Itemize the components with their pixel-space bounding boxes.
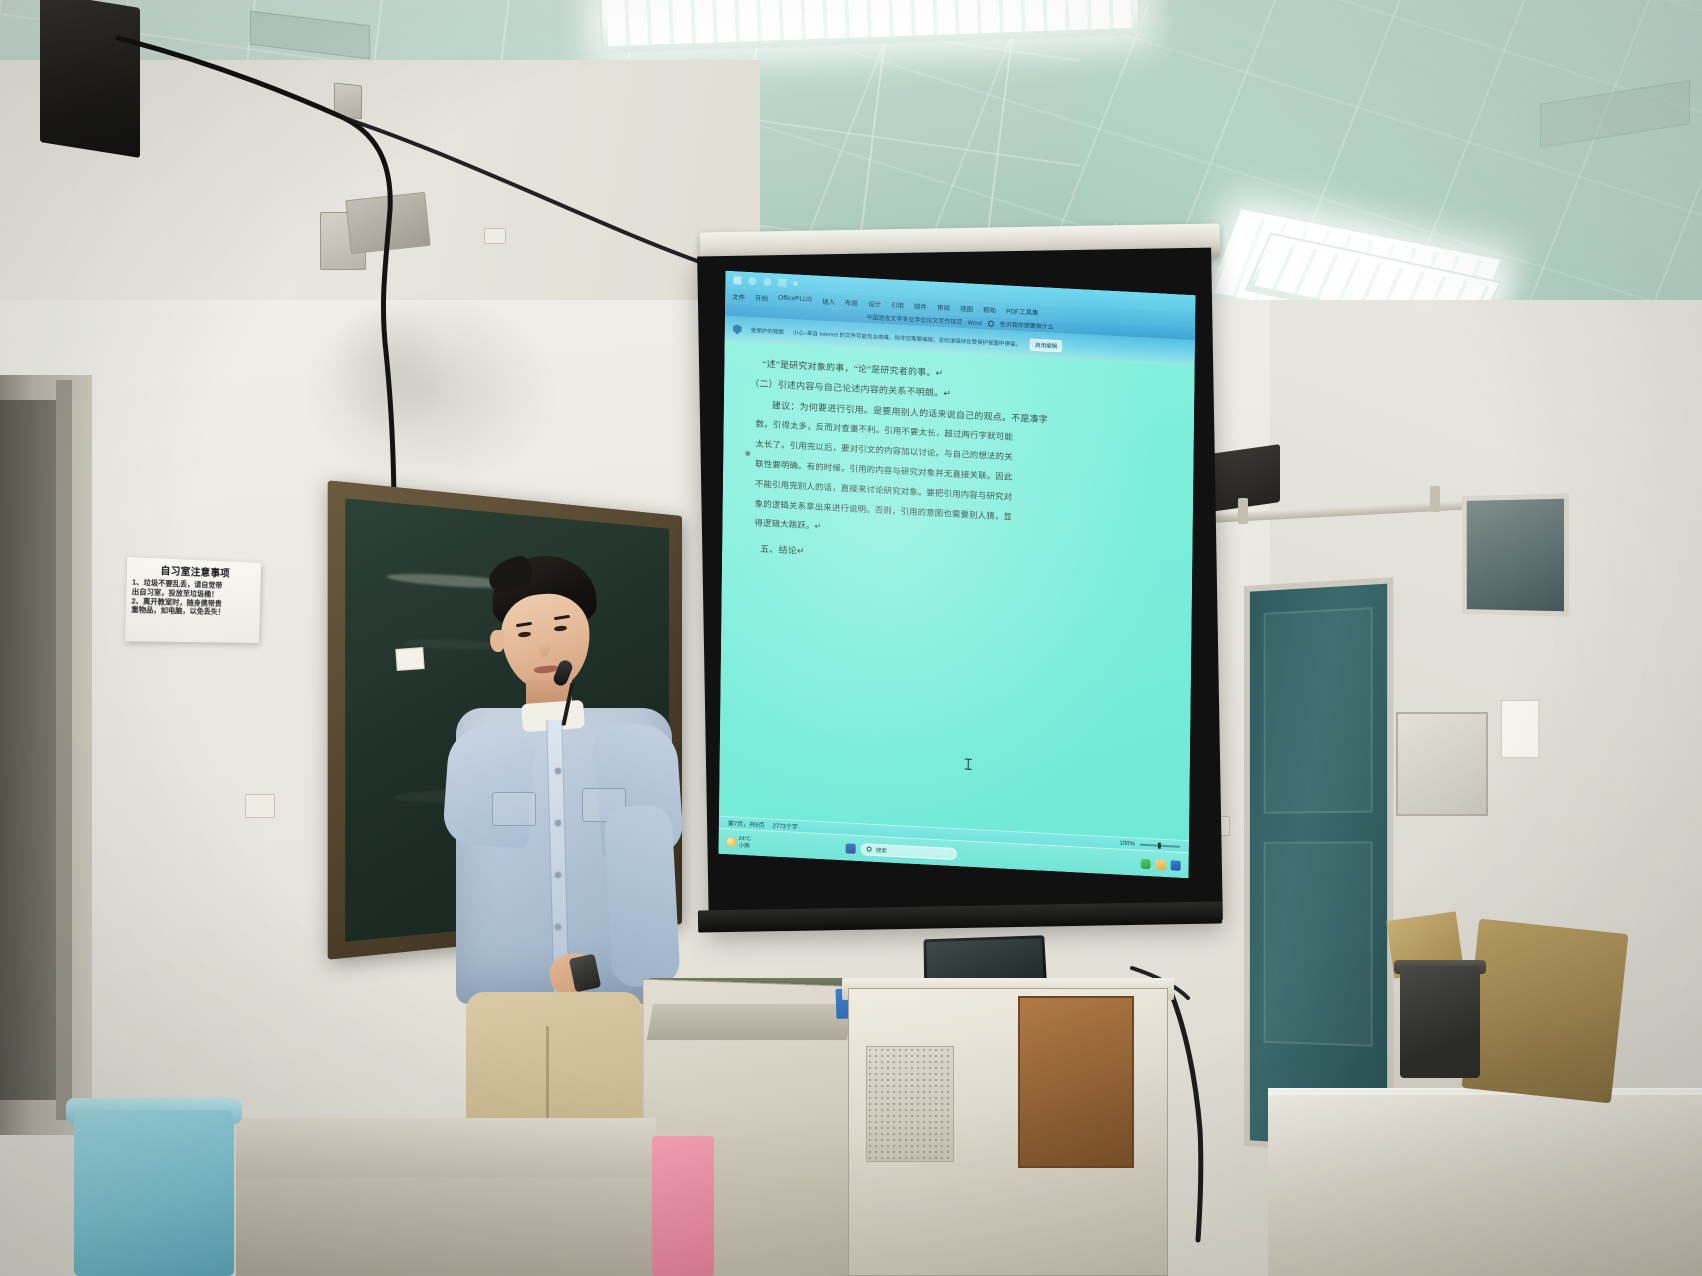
text-cursor-icon (968, 759, 969, 770)
word-tell-me-hint[interactable]: 告诉我你想要做什么 (1000, 319, 1054, 331)
tab-pdf-tools[interactable]: PDF工具集 (1006, 305, 1039, 317)
weather-text: 24°C 小雨 (739, 836, 751, 849)
projection-screen-surface: 文件 开始 OfficePLUS 插入 布局 设计 引用 邮件 审阅 视图 帮助… (719, 271, 1196, 878)
ear (490, 630, 504, 652)
tab-design[interactable]: 设计 (868, 298, 881, 309)
jacket-button-4 (555, 924, 561, 930)
nose (538, 640, 550, 657)
weather-widget[interactable]: 24°C 小雨 (727, 835, 751, 849)
tab-references[interactable]: 引用 (891, 299, 904, 310)
doorway-left-frame (56, 380, 72, 1120)
protected-view-message: 小心–来自 Internet 的文件可能包含病毒。除非您需要编辑，否则请保持在受… (793, 328, 1021, 348)
tab-layout[interactable]: 布局 (845, 297, 858, 308)
trash-bin (1400, 966, 1480, 1078)
word-document-canvas[interactable]: “述”是研究对象的事，“论”是研究者的事。↵ （二）引述内容与自己论述内容的关系… (719, 342, 1195, 840)
projector-mount-bracket (345, 192, 430, 254)
tab-insert[interactable]: 插入 (822, 295, 835, 306)
jacket-button-2 (555, 820, 561, 826)
door-panel-upper (1264, 607, 1373, 814)
window-right (1462, 493, 1569, 616)
study-room-notice-sign: 自习室注意事项 1、垃圾不要乱丢，请自觉带 出自习室，投放至垃圾桶！ 2、离开教… (125, 557, 261, 643)
wall-outlet-upper[interactable] (484, 228, 506, 244)
side-desk-panel (647, 1004, 853, 1040)
stage-platform (1268, 1092, 1702, 1276)
status-zoom-level[interactable]: 100% (1119, 840, 1134, 847)
wall-outlet-lower[interactable] (245, 794, 275, 818)
podium-wood-door[interactable] (1018, 996, 1134, 1168)
door-notice-paper (1501, 700, 1539, 758)
weather-description: 小雨 (739, 842, 750, 849)
wall-speaker-left (40, 0, 140, 158)
blue-stool (74, 1110, 234, 1276)
word-icon[interactable] (1171, 860, 1181, 871)
arm-right (603, 804, 680, 987)
taskbar-search-placeholder: 搜索 (876, 845, 887, 854)
tab-file[interactable]: 文件 (732, 291, 745, 302)
wall-baseboard (236, 1118, 656, 1184)
tab-view[interactable]: 视图 (960, 302, 973, 313)
notice-line-4: 重物品，如电脑，以免丢失！ (131, 607, 255, 619)
enable-editing-button[interactable]: 启用编辑 (1030, 339, 1062, 353)
wechat-icon[interactable] (1141, 858, 1151, 869)
weather-icon (727, 837, 736, 846)
jacket-button-1 (555, 768, 561, 774)
stacked-chairs (1462, 919, 1629, 1104)
taskbar-search-box[interactable]: 搜索 (861, 843, 957, 860)
tab-mailings[interactable]: 邮件 (914, 300, 927, 311)
junction-box-top (334, 83, 362, 120)
jacket-shoulder-left (442, 723, 536, 849)
wall-stain-2 (330, 300, 450, 440)
pipe-bracket-1 (1238, 498, 1248, 524)
task-view-icon[interactable] (846, 843, 856, 854)
protected-view-label: 受保护的视图 (751, 326, 784, 336)
status-word-count: 2773个字 (773, 821, 798, 831)
tab-help[interactable]: 帮助 (983, 304, 996, 315)
redo-icon[interactable] (763, 277, 771, 285)
status-bar-right-group: 100% (1119, 840, 1179, 849)
save-icon[interactable] (733, 276, 741, 284)
door-panel-lower (1264, 841, 1373, 1046)
floor (236, 1178, 656, 1276)
electrical-panel[interactable] (1396, 712, 1488, 816)
jacket-pocket-left (492, 792, 536, 826)
jacket-button-3 (555, 872, 561, 878)
paper-on-blackboard (395, 647, 424, 671)
search-icon[interactable] (988, 320, 994, 326)
podium-speaker-grille (866, 1046, 954, 1162)
touch-mode-icon[interactable] (778, 278, 786, 286)
file-explorer-icon[interactable] (1156, 859, 1166, 870)
taskbar-center-group: 搜索 (846, 842, 957, 860)
customize-icon[interactable] (793, 281, 797, 285)
tab-review[interactable]: 审阅 (937, 301, 950, 312)
tab-officeplus[interactable]: OfficePLUS (778, 295, 812, 304)
shield-icon (733, 324, 742, 334)
bullet-point-icon (745, 451, 750, 456)
classroom-photo-scene: 自习室注意事项 1、垃圾不要乱丢，请自觉带 出自习室，投放至垃圾桶！ 2、离开教… (0, 0, 1702, 1276)
status-page-info: 第7页，共8页 (728, 818, 765, 829)
door-right[interactable] (1244, 577, 1393, 1155)
doorway-left-opening (0, 400, 56, 1100)
undo-icon[interactable] (748, 276, 756, 284)
pipe-bracket-2 (1430, 486, 1440, 512)
word-application-window: 文件 开始 OfficePLUS 插入 布局 设计 引用 邮件 审阅 视图 帮助… (719, 271, 1196, 878)
search-icon (867, 846, 872, 851)
taskbar-right-group (1141, 858, 1181, 870)
zoom-slider[interactable] (1140, 843, 1180, 847)
notice-title: 自习室注意事项 (132, 561, 256, 580)
pink-object (652, 1136, 714, 1276)
tab-home[interactable]: 开始 (755, 292, 768, 303)
doc-line-10: 五、结论↵ (760, 545, 1178, 576)
